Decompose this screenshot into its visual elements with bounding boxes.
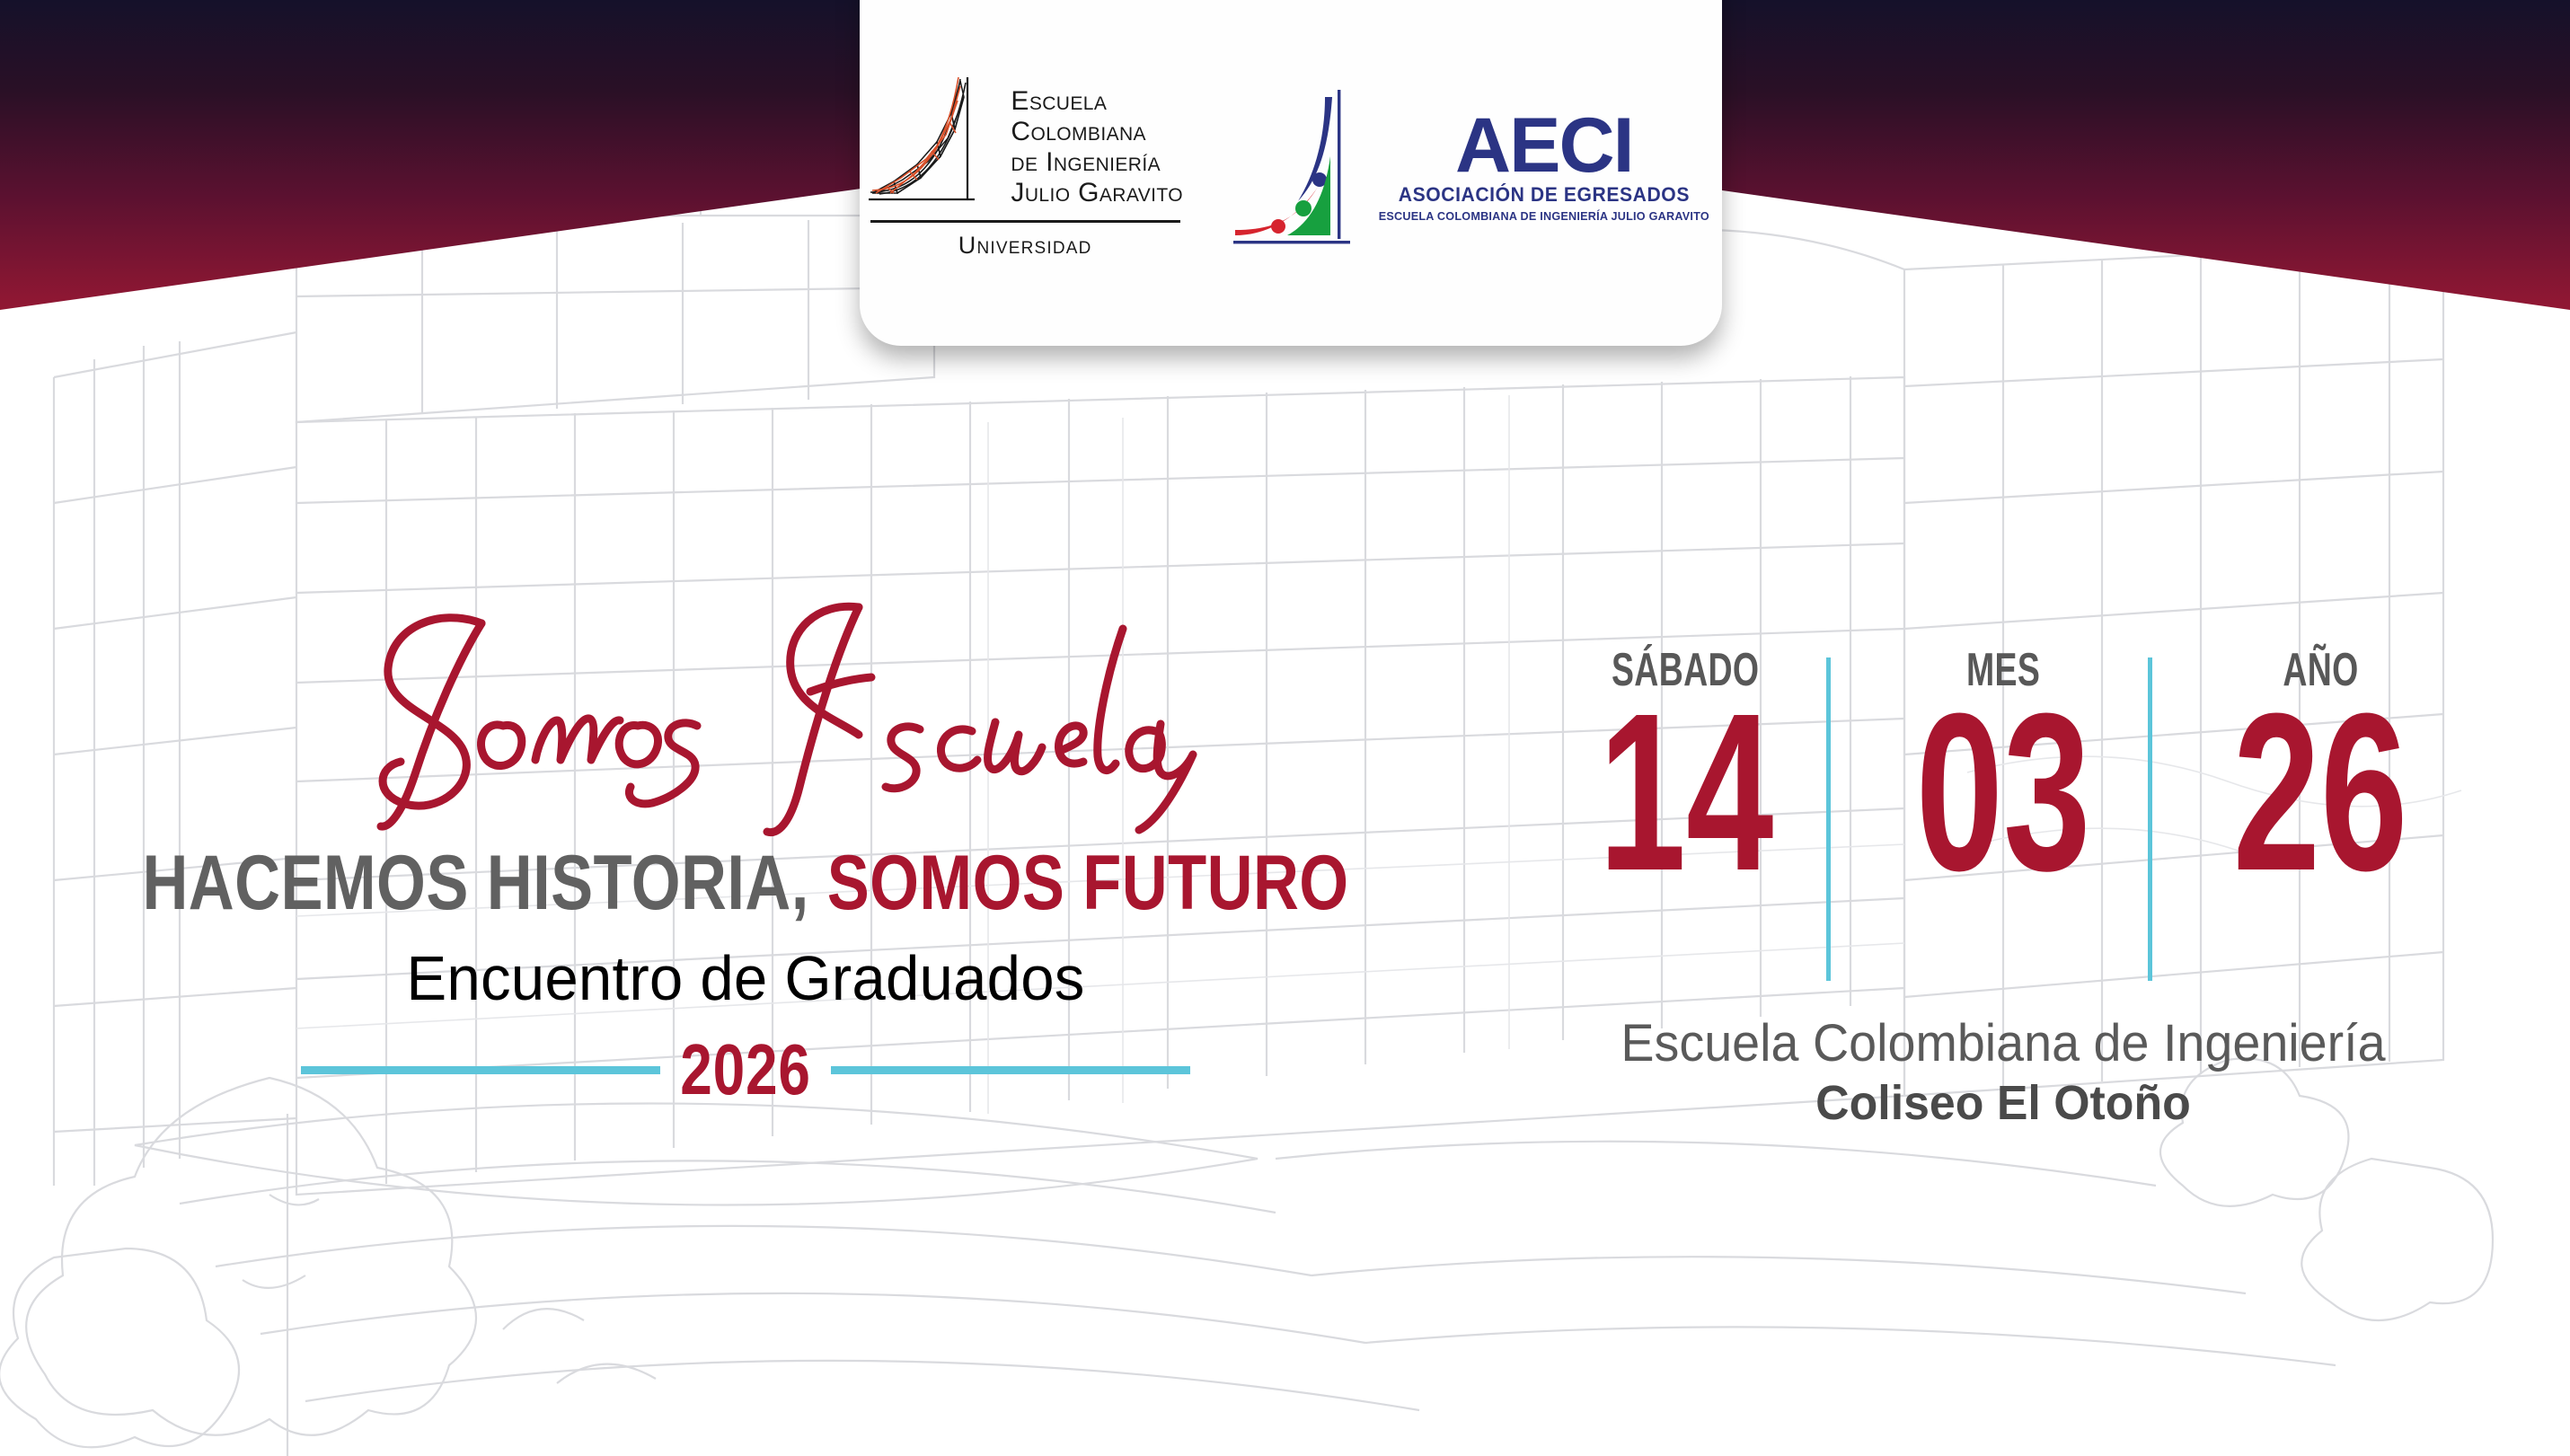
venue-place: Coliseo El Otoño (1546, 1075, 2460, 1131)
subtitle: Encuentro de Graduados (30, 942, 1462, 1014)
aeci-curve-mark (1232, 86, 1366, 248)
aeci-footnote: Escuela Colombiana de Ingeniería Julio G… (1379, 209, 1709, 223)
date-value-month: 03 (1916, 688, 2091, 897)
aeci-logo: AECI Asociación de Egresados Escuela Col… (1232, 86, 1715, 248)
escuela-line-1: Escuela (1011, 86, 1183, 117)
aeci-subtitle: Asociación de Egresados (1399, 183, 1690, 207)
escuela-logo: Escuela Colombiana de Ingeniería Julio G… (867, 74, 1183, 260)
tagline-part-gray: HACEMOS HISTORIA, (142, 840, 808, 926)
headline-block: HACEMOS HISTORIA, SOMOS FUTURO Encuentro… (0, 575, 1491, 1111)
year-rule-left (301, 1066, 660, 1074)
aeci-wordmark: AECI (1455, 110, 1632, 181)
logo-card: Escuela Colombiana de Ingeniería Julio G… (860, 0, 1722, 346)
date-value-day: 14 (1598, 688, 1773, 897)
date-divider-second (2148, 657, 2152, 981)
escuela-line-4: Julio Garavito (1011, 178, 1183, 208)
escuela-curve-mark (867, 74, 993, 208)
escuela-universidad-label: Universidad (958, 232, 1092, 260)
date-column-month: MES 03 (1844, 647, 2161, 1006)
year-value: 2026 (677, 1028, 814, 1111)
year-row: 2026 (0, 1028, 1491, 1111)
date-value-year: 26 (2233, 688, 2408, 897)
escuela-line-3: de Ingeniería (1011, 147, 1183, 178)
script-title (54, 575, 1491, 844)
tagline: HACEMOS HISTORIA, SOMOS FUTURO (134, 839, 1356, 928)
tagline-part-red: SOMOS FUTURO (827, 840, 1349, 926)
venue-institution: Escuela Colombiana de Ingeniería (1546, 1013, 2460, 1073)
year-rule-right (831, 1066, 1190, 1074)
event-poster: Escuela Colombiana de Ingeniería Julio G… (0, 0, 2570, 1456)
somos-escuela-script-lettering (350, 575, 1249, 844)
escuela-divider-rule (870, 220, 1180, 223)
date-divider-first (1826, 657, 1831, 981)
date-block: SÁBADO 14 MES 03 AÑO 26 Escuela Colombia… (1527, 647, 2479, 1131)
date-column-day: SÁBADO 14 (1527, 647, 1844, 1006)
escuela-line-2: Colombiana (1011, 117, 1183, 147)
date-column-year: AÑO 26 (2162, 647, 2479, 1006)
date-columns: SÁBADO 14 MES 03 AÑO 26 (1527, 647, 2479, 1006)
